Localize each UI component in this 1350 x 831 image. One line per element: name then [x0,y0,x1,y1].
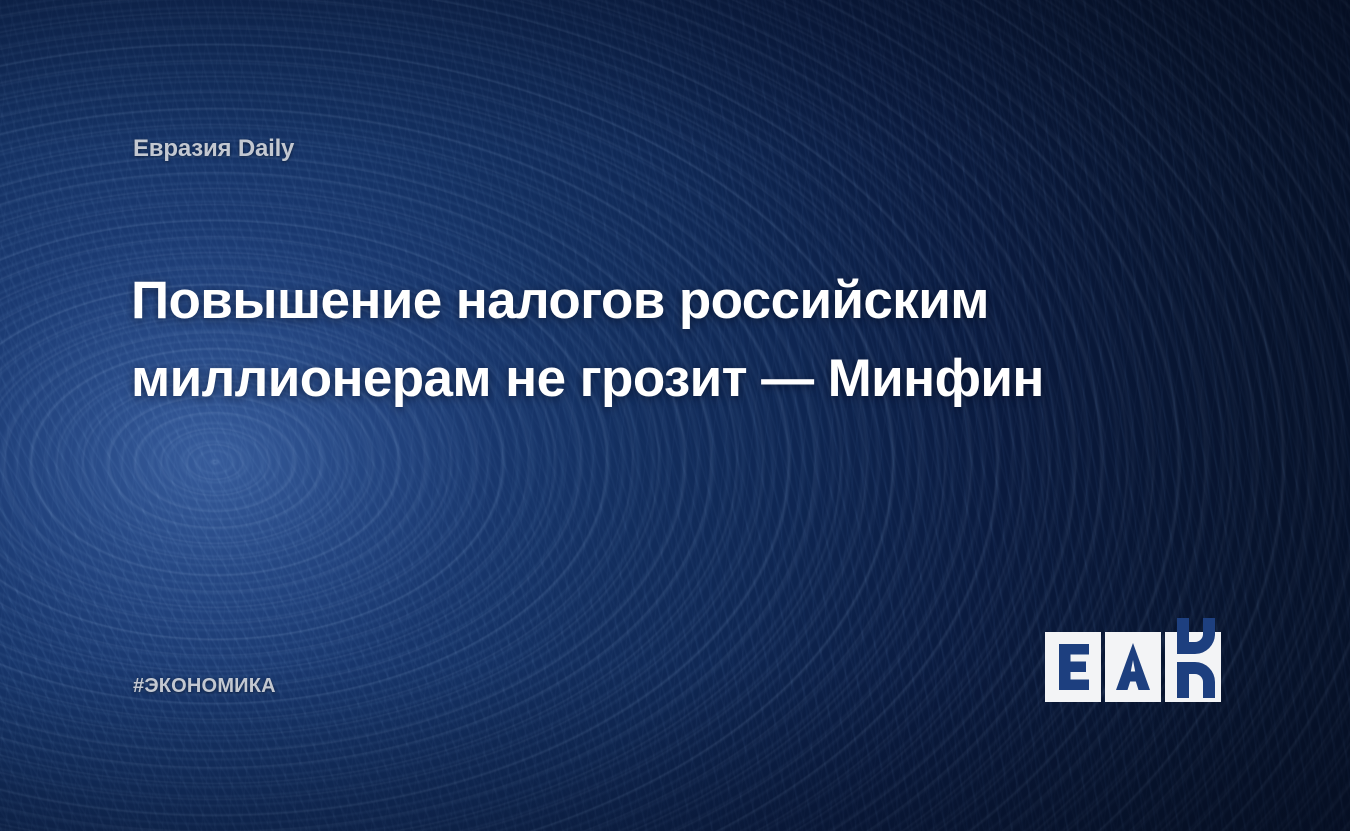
news-card: Евразия Daily Повышение налогов российск… [0,0,1350,831]
card-content: Евразия Daily Повышение налогов российск… [0,0,1350,831]
logo-tile-a [1105,632,1161,702]
ead-logo [1045,632,1221,702]
letter-d-icon [1171,618,1227,702]
headline-line-2: миллионерам не грозит — Минфин [131,340,1111,418]
letter-e-icon [1045,632,1101,702]
logo-tile-e [1045,632,1101,702]
headline: Повышение налогов российским миллионерам… [131,262,1111,418]
headline-line-1: Повышение налогов российским [131,262,1111,340]
category-tag: #ЭКОНОМИКА [133,675,276,698]
letter-a-icon [1105,632,1161,702]
logo-tile-d [1165,632,1221,702]
brand-name: Евразия Daily [133,135,294,163]
